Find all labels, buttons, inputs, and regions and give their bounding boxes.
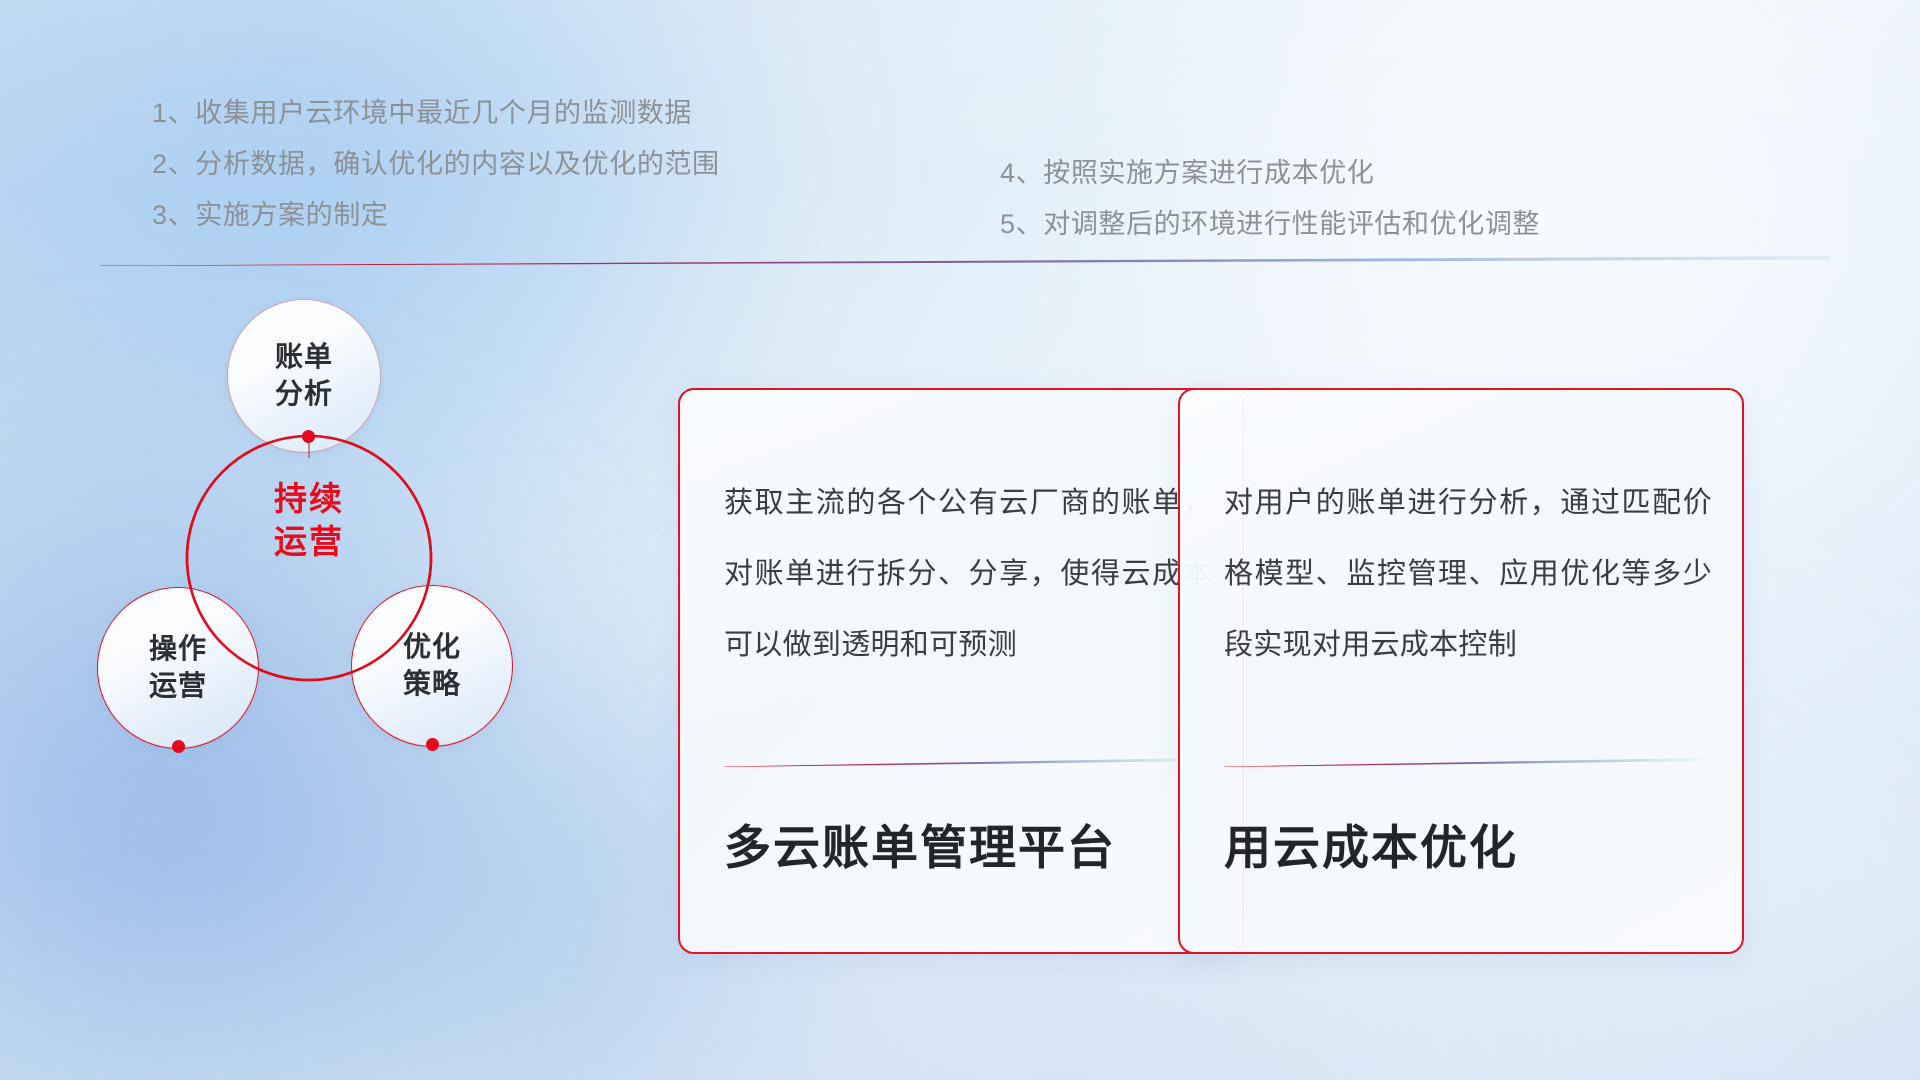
card-body-text: 获取主流的各个公有云厂商的账单，对账单进行拆分、分享，使得云成本可以做到透明和可… [724, 468, 1212, 681]
card-divider-rule [724, 758, 1202, 767]
venn-bubble-label-group: 操作 运营 [149, 631, 207, 705]
venn-center-label: 持续 运营 [187, 478, 431, 564]
step-item-2: 2、分析数据，确认优化的内容以及优化的范围 [152, 151, 720, 178]
card-divider-rule [1224, 758, 1702, 767]
step-item-1: 1、收集用户云环境中最近几个月的监测数据 [152, 100, 720, 127]
venn-center-label-line2: 运营 [187, 521, 431, 564]
card-cloud-cost-optimization[interactable]: 对用户的账单进行分析，通过匹配价格模型、监控管理、应用优化等多少段实现对用云成本… [1178, 388, 1744, 954]
venn-node-dot-top [302, 430, 315, 443]
venn-bubble-label-group: 账单 分析 [275, 339, 333, 413]
steps-right-column: 4、按照实施方案进行成本优化 5、对调整后的环境进行性能评估和优化调整 [1000, 160, 1540, 238]
step-item-3: 3、实施方案的制定 [152, 202, 720, 229]
venn-bubble-label-line2: 策略 [403, 666, 461, 703]
venn-node-dot-right [426, 738, 439, 751]
venn-bubble-label-line2: 分析 [275, 376, 333, 413]
card-title: 多云账单管理平台 [724, 820, 1212, 876]
venn-bubble-label-line2: 运营 [149, 668, 207, 705]
venn-bubble-label-group: 优化 策略 [403, 629, 461, 703]
card-multi-cloud-billing-platform[interactable]: 获取主流的各个公有云厂商的账单，对账单进行拆分、分享，使得云成本可以做到透明和可… [678, 388, 1244, 954]
step-item-4: 4、按照实施方案进行成本优化 [1000, 160, 1540, 187]
venn-diagram: 账单 分析 操作 运营 优化 策略 持续 运营 [80, 288, 550, 768]
step-item-5: 5、对调整后的环境进行性能评估和优化调整 [1000, 211, 1540, 238]
slide-canvas: 1、收集用户云环境中最近几个月的监测数据 2、分析数据，确认优化的内容以及优化的… [0, 0, 1920, 1080]
card-body-text: 对用户的账单进行分析，通过匹配价格模型、监控管理、应用优化等多少段实现对用云成本… [1224, 468, 1712, 681]
card-title: 用云成本优化 [1224, 820, 1712, 876]
venn-bubble-label-line1: 优化 [403, 629, 461, 666]
venn-center-label-line1: 持续 [187, 478, 431, 521]
venn-bubble-label-line1: 操作 [149, 631, 207, 668]
steps-left-column: 1、收集用户云环境中最近几个月的监测数据 2、分析数据，确认优化的内容以及优化的… [152, 100, 720, 229]
venn-bubble-billing-analysis[interactable]: 账单 分析 [228, 300, 380, 452]
venn-bubble-label-line1: 账单 [275, 339, 333, 376]
venn-node-dot-left [172, 740, 185, 753]
header-divider-rule [100, 256, 1830, 266]
venn-bubble-operations[interactable]: 操作 运营 [98, 588, 258, 748]
venn-bubble-optimization-strategy[interactable]: 优化 策略 [352, 586, 512, 746]
